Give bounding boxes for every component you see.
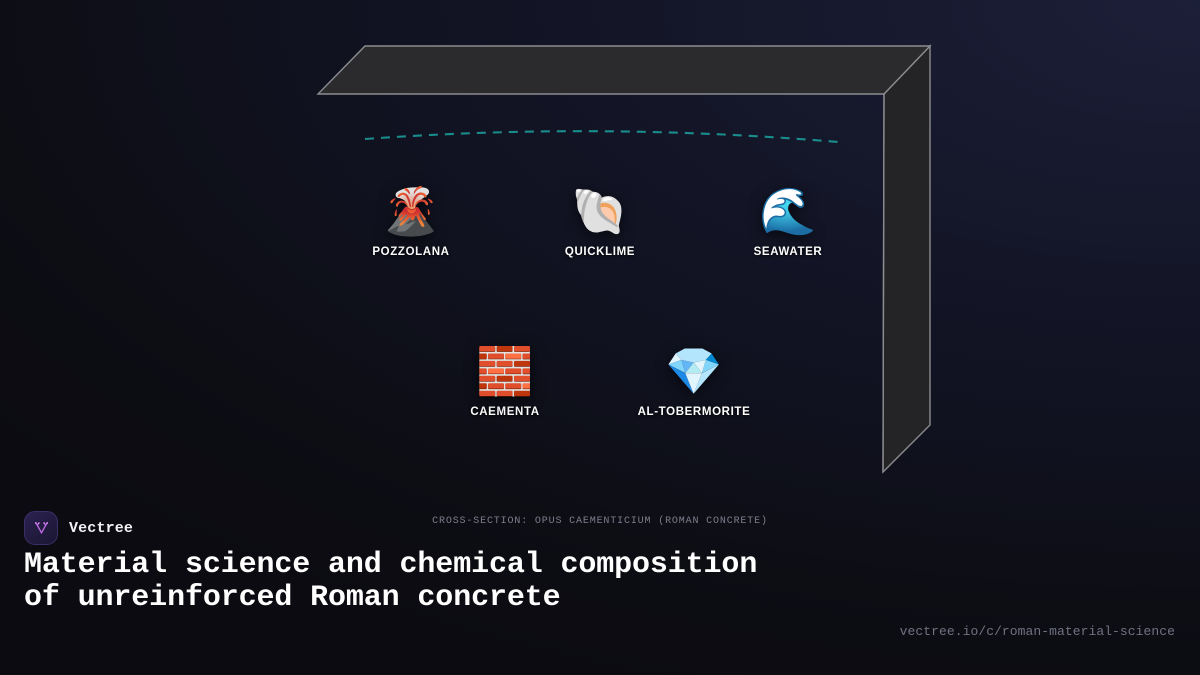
page-title: Material science and chemical compositio… xyxy=(24,549,784,614)
gem-icon: 💎 xyxy=(665,342,722,400)
brand-row[interactable]: Vectree xyxy=(24,511,133,545)
material-node-label: SEAWATER xyxy=(754,246,823,258)
stress-arch-dashed-line xyxy=(365,131,838,142)
brand-name: Vectree xyxy=(69,520,133,537)
ceiling-slab xyxy=(318,46,930,94)
material-node-seawater[interactable]: 🌊 SEAWATER xyxy=(703,182,873,258)
material-node-pozzolana[interactable]: 🌋 POZZOLANA xyxy=(326,182,496,258)
shell-icon: 🐚 xyxy=(571,182,628,240)
material-node-label: AL-TOBERMORITE xyxy=(638,406,751,418)
wall-panel xyxy=(883,46,930,472)
source-url: vectree.io/c/roman-material-science xyxy=(900,624,1175,639)
material-node-label: CAEMENTA xyxy=(470,406,539,418)
material-node-label: QUICKLIME xyxy=(565,246,635,258)
material-node-quicklime[interactable]: 🐚 QUICKLIME xyxy=(515,182,685,258)
brick-icon: 🧱 xyxy=(476,342,533,400)
volcano-icon: 🌋 xyxy=(382,182,439,240)
vectree-logo-icon xyxy=(24,511,58,545)
wall-inner-edge xyxy=(883,94,884,472)
diagram-caption: CROSS-SECTION: OPUS CAEMENTICIUM (ROMAN … xyxy=(0,516,1200,527)
material-node-al-tobermorite[interactable]: 💎 AL-TOBERMORITE xyxy=(609,342,779,418)
material-node-caementa[interactable]: 🧱 CAEMENTA xyxy=(420,342,590,418)
slide-canvas: 🌋 POZZOLANA 🐚 QUICKLIME 🌊 SEAWATER 🧱 CAE… xyxy=(0,0,1200,675)
material-node-label: POZZOLANA xyxy=(372,246,449,258)
wave-icon: 🌊 xyxy=(759,182,816,240)
